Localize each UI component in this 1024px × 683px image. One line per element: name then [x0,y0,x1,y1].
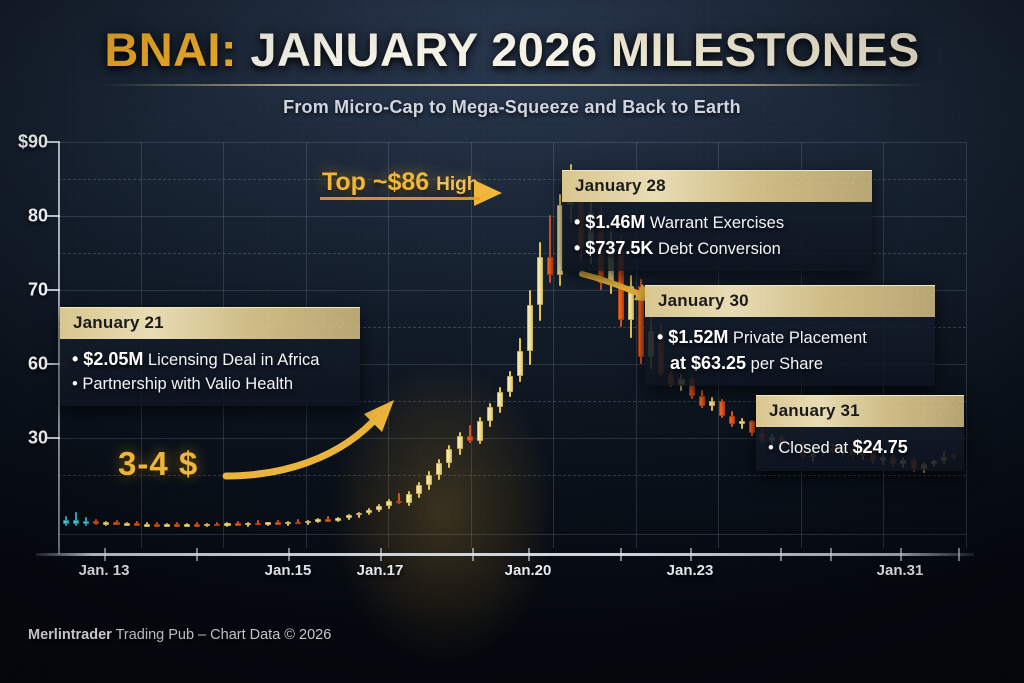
x-axis-tick-label: Jan.31 [877,562,924,579]
candle-body [73,520,79,524]
candlestick [204,523,210,527]
candlestick [305,520,311,525]
candlestick [436,459,442,480]
chart-infographic: BNAI: JANUARY 2026 MILESTONES From Micro… [0,0,1024,683]
candlestick [739,418,745,429]
callout-line-text: Warrant Exercises [645,214,784,232]
candle-body [739,421,745,424]
candlestick [73,512,79,527]
candle-body [275,522,281,525]
callout-body: • Closed at $24.75 [756,427,964,471]
candle-body [103,522,109,525]
callout-january-31: January 31• Closed at $24.75 [756,395,964,471]
candle-body [83,521,89,524]
callout-line: at $63.25 per Share [657,351,922,377]
candlestick [487,403,493,426]
candle-body [709,401,715,406]
candlestick [396,493,402,504]
candle-body [335,518,341,521]
candlestick [416,482,422,497]
x-axis-tick-mark [196,548,198,561]
candlestick [174,522,180,526]
candle-body [467,436,473,441]
candlestick [194,522,200,526]
candlestick [547,215,553,283]
page-title: BNAI: JANUARY 2026 MILESTONES [0,22,1024,77]
candle-body [194,524,200,527]
candlestick [93,519,99,524]
candlestick [275,520,281,525]
annotation-top-high-main: Top ~$86 [322,168,429,196]
candle-body [507,376,513,392]
annotation-top-high: Top ~$86 High [322,168,478,197]
annotation-price-band: 3-4 $ [118,445,198,483]
callout-line-text: • Partnership with Valio Health [72,375,293,393]
candle-body [255,523,261,526]
candlestick [315,518,321,523]
callout-line-amount: • $1.46M [574,212,645,232]
x-axis-tick-mark [528,548,530,561]
candle-body [174,524,180,527]
grid-line-h [58,142,966,143]
candle-body [376,506,382,510]
candlestick [103,521,109,526]
callout-title: January 30 [645,285,935,317]
candlestick [245,522,251,526]
candlestick [729,411,735,427]
x-axis-tick-mark [104,548,106,561]
candle-body [628,286,634,319]
candle-body [184,524,190,527]
callout-body: • $2.05M Licensing Deal in Africa• Partn… [60,339,360,406]
callout-line-amount: • $2.05M [72,349,143,369]
candlestick [477,417,483,444]
candle-body [477,421,483,440]
grid-line-v [966,142,967,548]
callout-line-text: • Closed at [768,439,853,457]
candlestick [376,504,382,512]
title-period: JANUARY 2026 [250,23,597,76]
callout-line: • $1.46M Warrant Exercises [574,210,859,236]
grid-line-v [553,142,554,548]
callout-line: • Partnership with Valio Health [72,373,347,396]
candle-body [325,519,331,522]
candlestick [144,522,150,526]
candlestick [719,399,725,418]
candle-body [457,436,463,450]
candle-body [305,521,311,524]
x-axis-tick-label: Jan. 13 [79,562,130,579]
candlestick [386,499,392,509]
candlestick [265,522,271,527]
candlestick [467,425,473,443]
candlestick [497,387,503,412]
grid-line-v [471,142,472,548]
callout-line-amount: $24.75 [853,437,908,457]
y-axis-tick-label: 70 [28,280,48,301]
candlestick [285,521,291,526]
candlestick [356,512,362,518]
callout-line-amount: at $63.25 [670,353,746,373]
candlestick [699,390,705,409]
candlestick [628,275,634,338]
candle-body [63,520,69,524]
candlestick [134,521,140,526]
callout-line-text: Private Placement [728,329,866,347]
x-axis-tick-mark [780,548,782,561]
callout-line: • $737.5K Debt Conversion [574,236,859,262]
callout-title: January 31 [756,395,964,427]
callout-january-21: January 21• $2.05M Licensing Deal in Afr… [60,307,360,406]
callout-title: January 21 [60,307,360,339]
candle-body [285,522,291,525]
callout-line: • Closed at $24.75 [768,435,951,461]
title-suffix: MILESTONES [611,23,920,76]
candle-body [729,416,735,425]
callout-line-text: Licensing Deal in Africa [143,351,319,369]
candle-body [235,523,241,526]
candlestick [335,517,341,522]
candlestick [366,508,372,516]
x-axis-tick-mark [472,548,474,561]
annotation-top-high-suffix: High [436,174,478,195]
candle-body [113,522,119,525]
candle-body [446,449,452,463]
candlestick [709,397,715,411]
candle-body [265,522,271,525]
footer-credit: Merlintrader Trading Pub – Chart Data © … [28,627,331,643]
candlestick [214,522,220,526]
candlestick [638,279,644,364]
candlestick [224,522,230,527]
x-axis-tick-mark [900,548,902,561]
callout-line-amount: • $1.52M [657,327,728,347]
y-axis-tick-label: 60 [28,354,48,375]
candlestick [164,523,170,527]
title-ticker: BNAI: [104,23,237,76]
candlestick [124,522,130,527]
x-axis-tick-mark [288,548,290,561]
header: BNAI: JANUARY 2026 MILESTONES From Micro… [0,0,1024,92]
candle-body [426,475,432,485]
candlestick [113,520,119,525]
candle-body [346,515,352,518]
candlestick [63,516,69,526]
candle-body [154,524,160,527]
callout-january-30: January 30• $1.52M Private Placementat $… [645,285,935,386]
candle-body [124,523,130,526]
candle-body [749,421,755,433]
candlestick [507,371,513,397]
candle-body [497,392,503,408]
candle-body [638,286,644,356]
candle-body [406,494,412,504]
candlestick [426,471,432,490]
candle-body [214,524,220,527]
callout-title: January 28 [562,170,872,202]
x-axis-tick-mark [380,548,382,561]
grid-line-v [388,142,389,548]
candle-body [144,524,150,527]
y-axis-tick-label: 80 [28,206,48,227]
callout-body: • $1.46M Warrant Exercises• $737.5K Debt… [562,202,872,271]
candle-body [527,305,533,351]
candle-body [699,396,705,406]
candlestick [346,514,352,520]
x-axis-tick-mark [830,548,832,561]
callout-line-amount: • $737.5K [574,238,653,258]
page-subtitle: From Micro-Cap to Mega-Squeeze and Back … [0,97,1024,118]
candlestick [235,521,241,525]
candle-body [416,485,422,493]
candlestick [406,491,412,506]
x-axis-tick-mark [620,548,622,561]
callout-line: • $2.05M Licensing Deal in Africa [72,347,347,373]
candlestick [749,420,755,436]
grid-line-h [58,534,966,535]
x-axis-tick-label: Jan.15 [265,562,312,579]
callout-line-text: per Share [746,355,823,373]
candle-body [93,521,99,524]
candlestick [255,520,261,525]
candlestick [446,445,452,468]
x-axis-tick-label: Jan.17 [357,562,404,579]
candle-wick [75,512,77,527]
candle-body [245,523,251,526]
x-axis-tick-label: Jan.20 [505,562,552,579]
callout-january-28: January 28• $1.46M Warrant Exercises• $7… [562,170,872,271]
x-axis-tick-mark [958,548,960,561]
candlestick [295,519,301,524]
footer-brand: Merlintrader [28,627,112,643]
candle-body [396,501,402,504]
callout-line-text: Debt Conversion [653,240,780,258]
candlestick [184,523,190,527]
candlestick [517,338,523,382]
y-axis-tick-label: $90 [18,132,48,153]
candle-body [224,523,230,526]
header-divider [100,84,924,86]
candle-body [436,463,442,475]
candle-body [719,401,725,416]
candle-body [487,407,493,421]
candlestick [457,432,463,455]
footer-rest: Trading Pub – Chart Data © 2026 [112,627,331,643]
candlestick [154,522,160,526]
candle-body [366,510,372,513]
candle-body [537,257,543,305]
candle-body [517,351,523,376]
candle-body [134,523,140,526]
candle-body [386,501,392,506]
candle-body [295,522,301,525]
candlestick [83,517,89,526]
y-axis-tick-label: 30 [28,428,48,449]
x-axis-tick-label: Jan.23 [667,562,714,579]
callout-body: • $1.52M Private Placementat $63.25 per … [645,317,935,386]
candlestick [537,242,543,321]
candle-body [547,257,553,276]
x-axis-line [36,553,974,556]
candlestick [325,516,331,521]
candle-body [204,524,210,527]
x-axis-tick-mark [690,548,692,561]
candle-body [315,519,321,522]
callout-line: • $1.52M Private Placement [657,325,922,351]
candlestick [527,290,533,365]
candle-body [164,524,170,527]
